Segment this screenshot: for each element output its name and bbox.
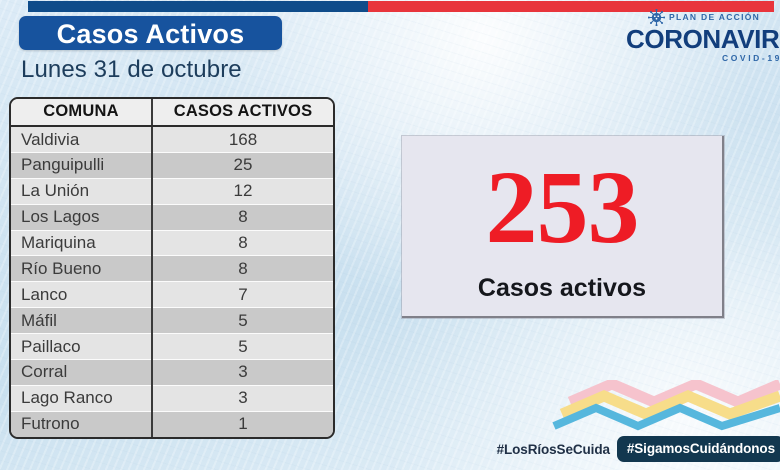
table-row: Corral3 — [11, 359, 333, 385]
table-row: Futrono1 — [11, 411, 333, 436]
coronavirus-logo: PLAN DE ACCIÓN CORONAVIRUS COVID-19 — [626, 9, 780, 63]
column-header-casos-activos: CASOS ACTIVOS — [152, 99, 333, 126]
logo-plan-text: PLAN DE ACCIÓN — [669, 12, 760, 22]
cell-comuna: Río Bueno — [11, 256, 152, 282]
page-title-pill: Casos Activos — [19, 16, 282, 50]
logo-sub-text: COVID-19 — [626, 53, 780, 63]
casos-activos-table: COMUNA CASOS ACTIVOS Valdivia168Panguipu… — [11, 99, 333, 437]
cell-comuna: Los Lagos — [11, 204, 152, 230]
cell-casos-activos: 5 — [152, 334, 333, 360]
table-row: Paillaco5 — [11, 334, 333, 360]
cell-comuna: Corral — [11, 359, 152, 385]
cell-comuna: Mariquina — [11, 230, 152, 256]
cell-comuna: Lanco — [11, 282, 152, 308]
table-row: Lanco7 — [11, 282, 333, 308]
table-row: La Unión12 — [11, 178, 333, 204]
total-cases-box: 253 Casos activos — [402, 136, 724, 318]
table-header-row: COMUNA CASOS ACTIVOS — [11, 99, 333, 126]
table-row: Valdivia168 — [11, 126, 333, 152]
cell-comuna: Futrono — [11, 411, 152, 436]
cell-casos-activos: 168 — [152, 126, 333, 152]
cell-comuna: Valdivia — [11, 126, 152, 152]
footer-hashtags: #LosRíosSeCuida #SigamosCuidándonos — [497, 436, 780, 462]
cell-casos-activos: 5 — [152, 308, 333, 334]
table-row: Mariquina8 — [11, 230, 333, 256]
total-cases-label: Casos activos — [402, 274, 722, 303]
table-row: Panguipulli25 — [11, 152, 333, 178]
casos-activos-table-container: COMUNA CASOS ACTIVOS Valdivia168Panguipu… — [9, 97, 335, 439]
virus-icon — [648, 9, 665, 26]
cell-casos-activos: 12 — [152, 178, 333, 204]
table-row: Lago Ranco3 — [11, 385, 333, 411]
cell-casos-activos: 8 — [152, 256, 333, 282]
table-row: Máfil5 — [11, 308, 333, 334]
cell-comuna: Máfil — [11, 308, 152, 334]
table-body: Valdivia168Panguipulli25La Unión12Los La… — [11, 126, 333, 437]
cell-casos-activos: 25 — [152, 152, 333, 178]
cell-comuna: La Unión — [11, 178, 152, 204]
logo-main-text: CORONAVIRUS — [626, 26, 780, 52]
cell-comuna: Lago Ranco — [11, 385, 152, 411]
page-subtitle-date: Lunes 31 de octubre — [21, 56, 242, 84]
cell-casos-activos: 3 — [152, 385, 333, 411]
zigzag-wave-graphic — [550, 380, 780, 434]
cell-casos-activos: 8 — [152, 204, 333, 230]
hashtag-sigamoscuidandonos-badge[interactable]: #SigamosCuidándonos — [617, 436, 780, 462]
table-row: Los Lagos8 — [11, 204, 333, 230]
cell-casos-activos: 8 — [152, 230, 333, 256]
cell-casos-activos: 7 — [152, 282, 333, 308]
cell-comuna: Paillaco — [11, 334, 152, 360]
logo-top-row: PLAN DE ACCIÓN — [626, 9, 780, 25]
cell-casos-activos: 3 — [152, 359, 333, 385]
column-header-comuna: COMUNA — [11, 99, 152, 126]
cell-comuna: Panguipulli — [11, 152, 152, 178]
hashtag-losriossecuida[interactable]: #LosRíosSeCuida — [497, 442, 610, 457]
flag-bar-blue-segment — [28, 1, 368, 12]
total-cases-value: 253 — [402, 156, 722, 260]
table-row: Río Bueno8 — [11, 256, 333, 282]
page-title: Casos Activos — [19, 19, 282, 50]
cell-casos-activos: 1 — [152, 411, 333, 436]
poster-canvas: Casos Activos Lunes 31 de octubre — [0, 0, 780, 470]
